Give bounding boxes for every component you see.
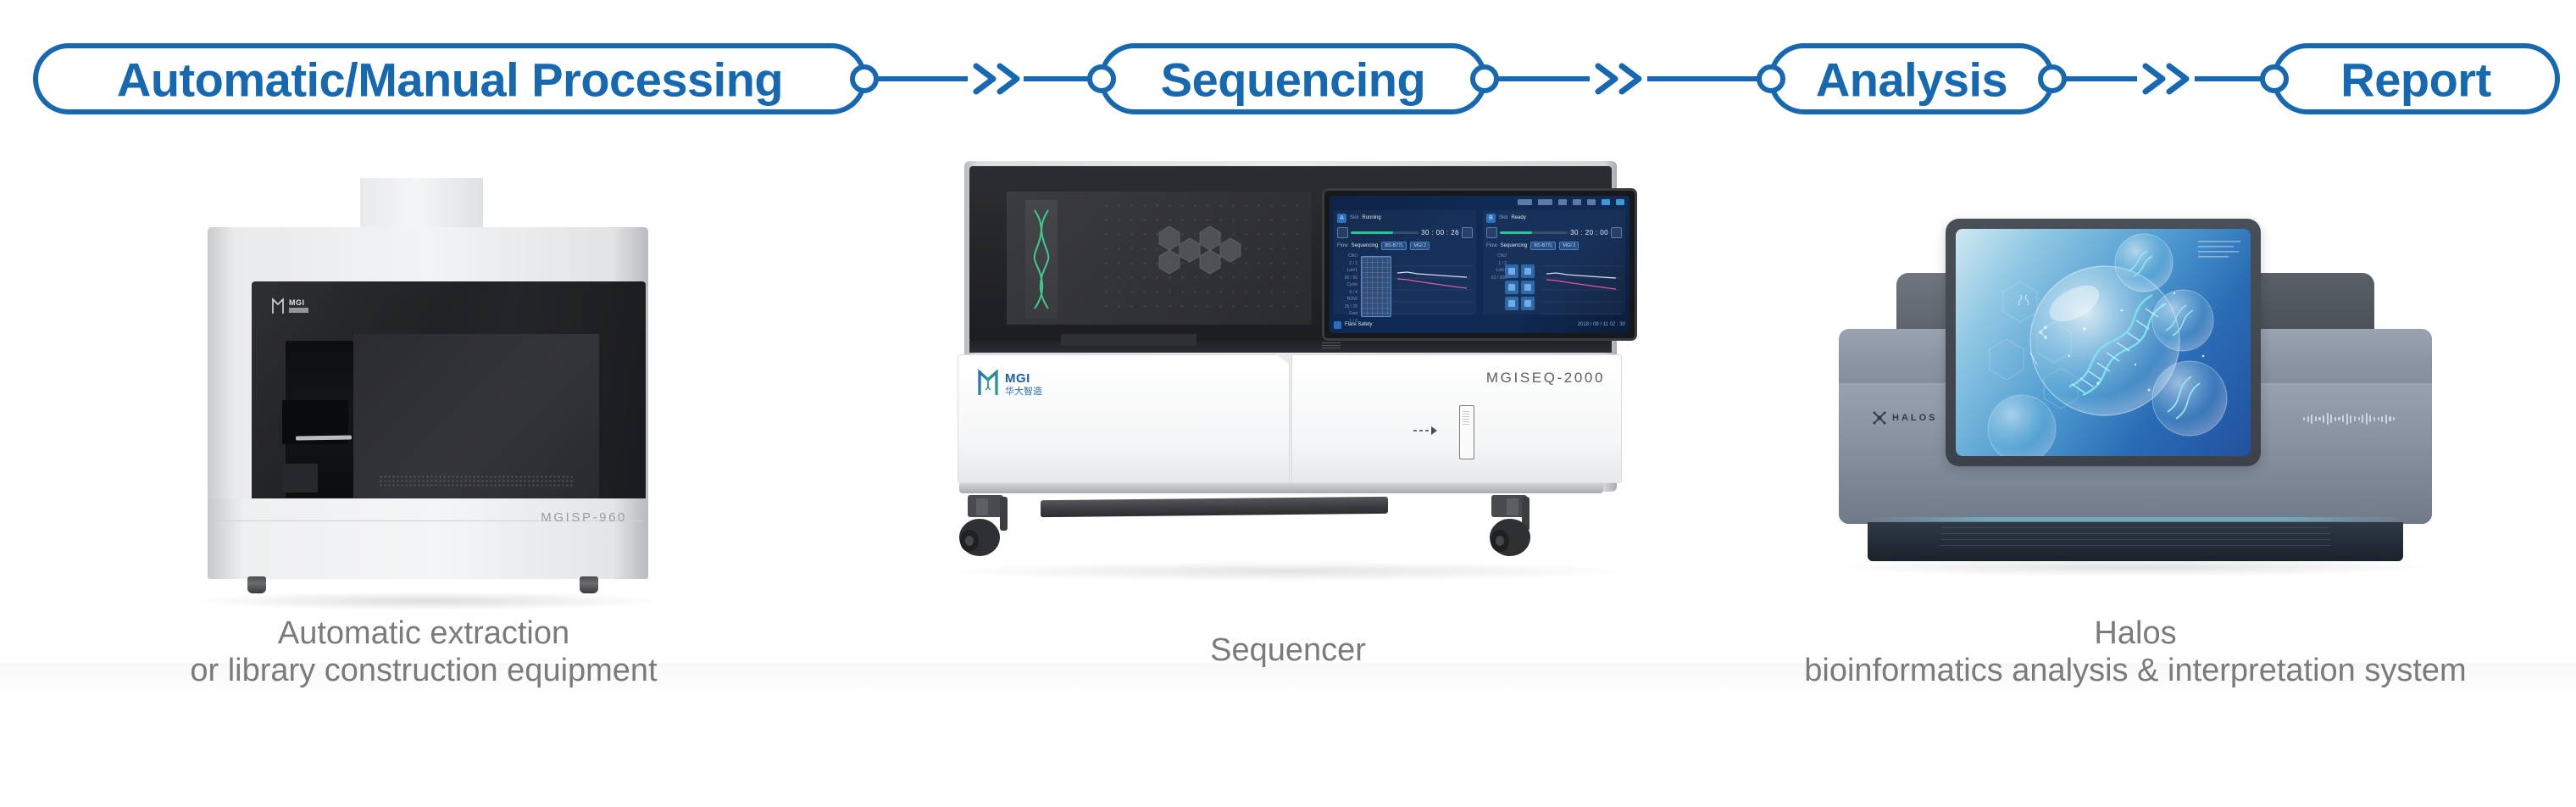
device-column-processing: MGI MGISP-960 Automatic extraction or li… bbox=[102, 136, 746, 807]
device-column-analysis: HALOS bbox=[1746, 136, 2525, 807]
caption-sequencer: Sequencer bbox=[1210, 632, 1366, 669]
d1-deck-block bbox=[282, 464, 318, 493]
panel-b-slot-chip: B bbox=[1486, 214, 1496, 223]
well bbox=[1521, 297, 1535, 310]
panel-b-progress-row: 30 : 20 : 00 bbox=[1486, 226, 1622, 238]
svg-text:MGI: MGI bbox=[1005, 371, 1030, 386]
circle-connector-icon-4 bbox=[1759, 67, 1783, 91]
panel-b-pause-button[interactable] bbox=[1611, 227, 1622, 238]
panel-a-slot-chip: A bbox=[1337, 214, 1346, 223]
status-icon-3 bbox=[1558, 199, 1567, 205]
panel-b-body: CNU 1 / 2 Lot#1 52 / 300 bbox=[1486, 253, 1622, 311]
d1-foot-left bbox=[247, 576, 266, 593]
user-icon[interactable] bbox=[1602, 199, 1610, 205]
flow-step-label-2[interactable]: Sequencing bbox=[1161, 53, 1425, 108]
panel-a-metric: Fast bbox=[1337, 310, 1357, 318]
panel-b-metric: CNU bbox=[1486, 253, 1507, 260]
caption-processing-line2: or library construction equipment bbox=[190, 652, 657, 689]
caption-sequencer-line1: Sequencer bbox=[1210, 632, 1366, 669]
panel-b-run-name: Ready bbox=[1511, 215, 1525, 220]
caption-processing: Automatic extraction or library construc… bbox=[190, 615, 657, 690]
status-icon-4 bbox=[1573, 199, 1581, 205]
d2-dna-indicator-slot bbox=[1025, 200, 1058, 319]
panel-a-metric: Lot#1 bbox=[1337, 267, 1357, 275]
footer-icon bbox=[1334, 321, 1341, 329]
svg-text:华大智造: 华大智造 bbox=[1005, 385, 1042, 397]
well bbox=[1505, 297, 1518, 310]
d1-vent-dots bbox=[379, 475, 574, 487]
d2-vent-grille bbox=[1322, 342, 1341, 350]
panel-b-flow-label: Flow bbox=[1486, 243, 1497, 248]
d2-caster-right bbox=[1476, 493, 1541, 576]
double-chevron-right-icon-1 bbox=[976, 66, 1017, 92]
mgisp-960-illustration: MGI MGISP-960 bbox=[186, 178, 661, 585]
halos-illustration: HALOS bbox=[1839, 195, 2432, 568]
panel-a-metric: CNU bbox=[1337, 253, 1357, 260]
footer-time: 2018 / 09 / 11 02 : 30 bbox=[1578, 322, 1625, 327]
panel-a-btn-1[interactable]: BS-B77L bbox=[1381, 242, 1407, 250]
menu-icon[interactable] bbox=[1616, 199, 1624, 205]
d2-upper-dark-panel: A Slot Running 30 : 00 : 26 bbox=[969, 166, 1612, 342]
d2-drawer-lip[interactable] bbox=[1061, 334, 1196, 346]
d2-cartridge-insert bbox=[1463, 411, 1469, 426]
device-column-sequencer: A Slot Running 30 : 00 : 26 bbox=[881, 136, 1695, 807]
well bbox=[1505, 281, 1518, 294]
d1-model-label: MGISP-960 bbox=[541, 510, 627, 525]
double-chevron-right-icon-3 bbox=[2146, 66, 2186, 92]
d2-support-rail bbox=[1041, 497, 1388, 517]
panel-a-remaining-time: 30 : 00 : 26 bbox=[1421, 229, 1459, 237]
d1-foot-right bbox=[580, 576, 598, 593]
panel-a-progress-row: 30 : 00 : 26 bbox=[1337, 226, 1473, 238]
sequencer-touchscreen[interactable]: A Slot Running 30 : 00 : 26 bbox=[1330, 196, 1629, 333]
panel-a-pause-button[interactable] bbox=[1462, 227, 1473, 238]
well bbox=[1521, 281, 1535, 294]
panel-a-metric: Cycle bbox=[1337, 281, 1357, 289]
d2-caster-left bbox=[959, 493, 1024, 576]
mgi-logo-icon: MGI 华大智造 bbox=[976, 368, 1068, 398]
footer-label: Flare Safety bbox=[1345, 322, 1372, 327]
panel-b-slot-label: Slot bbox=[1499, 215, 1507, 220]
panel-a-progress-fill bbox=[1351, 231, 1393, 234]
flow-step-label-3[interactable]: Analysis bbox=[1816, 53, 2007, 108]
svg-text:MGI: MGI bbox=[289, 298, 305, 307]
mgi-logo-icon: MGI bbox=[270, 295, 328, 317]
flow-step-label-1[interactable]: Automatic/Manual Processing bbox=[117, 53, 783, 108]
status-icon-2 bbox=[1538, 199, 1552, 205]
dna-helix-icon bbox=[1025, 200, 1058, 319]
circle-connector-icon-5 bbox=[2040, 67, 2064, 91]
circle-connector-icon-6 bbox=[2262, 67, 2286, 91]
panel-b-btn-1[interactable]: BS-B77L bbox=[1530, 242, 1556, 250]
panel-a-run-name: Running bbox=[1362, 215, 1380, 220]
panel-b-btn-2[interactable]: MGI 2 bbox=[1559, 242, 1579, 250]
panel-b-progress-fill bbox=[1500, 231, 1532, 234]
d2-cartridge-slot[interactable] bbox=[1459, 405, 1474, 459]
panel-a-progress-track bbox=[1351, 231, 1418, 234]
d3-output-tray[interactable] bbox=[1940, 527, 2330, 551]
screen-footer: Flare Safety 2018 / 09 / 11 02 : 30 bbox=[1334, 320, 1625, 330]
panel-a-metric: 25 / 25 bbox=[1337, 303, 1357, 311]
panel-b-metric: Lot#1 bbox=[1486, 267, 1507, 275]
screen-panel-a: A Slot Running 30 : 00 : 26 bbox=[1334, 210, 1476, 314]
halos-monitor bbox=[1946, 219, 2261, 466]
d3-waveform-indicator-icon bbox=[2303, 412, 2395, 426]
status-icon-5 bbox=[1587, 199, 1596, 205]
panel-b-progress-track bbox=[1500, 231, 1568, 234]
panel-a-metric-list: CNU 2 / 2 Lot#1 90 / 90 Cycle 3 / 4 ROW … bbox=[1337, 253, 1359, 325]
d2-hexagon-cluster bbox=[1142, 224, 1269, 283]
panel-a-stop-button[interactable] bbox=[1337, 227, 1348, 238]
halos-logo-icon: HALOS bbox=[1871, 409, 1944, 427]
caption-analysis-line1: Halos bbox=[1804, 615, 2466, 652]
d1-floor-shadow bbox=[195, 592, 661, 610]
d2-touchscreen-bezel: A Slot Running 30 : 00 : 26 bbox=[1322, 188, 1637, 341]
panel-b-header: B Slot Ready bbox=[1486, 213, 1622, 223]
panel-a-flow-row: Flow Sequencing BS-B77L MGI 2 bbox=[1337, 241, 1473, 250]
flow-step-label-4[interactable]: Report bbox=[2340, 53, 2490, 108]
d2-load-direction-icon bbox=[1413, 426, 1452, 436]
panel-a-flowcell-map bbox=[1361, 256, 1391, 317]
caption-processing-line1: Automatic extraction bbox=[190, 615, 657, 652]
screen-panel-b: B Slot Ready 30 : 20 : 00 bbox=[1483, 210, 1625, 314]
double-chevron-right-icon-2 bbox=[1598, 66, 1639, 92]
panel-b-metric: 1 / 2 bbox=[1486, 260, 1507, 268]
circle-connector-icon-1 bbox=[852, 67, 876, 91]
panel-a-btn-2[interactable]: MGI 2 bbox=[1410, 242, 1430, 250]
status-icon-1 bbox=[1518, 199, 1532, 205]
panel-a-metric: ROW bbox=[1337, 296, 1357, 303]
panel-a-metric: 90 / 90 bbox=[1337, 275, 1357, 282]
caption-analysis: Halos bioinformatics analysis & interpre… bbox=[1804, 615, 2466, 690]
panel-a-flow-label: Flow bbox=[1337, 243, 1348, 248]
well bbox=[1521, 264, 1535, 278]
mgiseq-2000-illustration: A Slot Running 30 : 00 : 26 bbox=[941, 161, 1635, 602]
d2-reagent-bay bbox=[1007, 192, 1312, 325]
well bbox=[1505, 264, 1518, 278]
panel-b-flow-value: Sequencing bbox=[1501, 243, 1528, 248]
panel-a-metric: 2 / 2 bbox=[1337, 260, 1357, 268]
d2-plinth bbox=[959, 483, 1603, 493]
circle-connector-icon-3 bbox=[1473, 67, 1496, 91]
circle-connector-icon-2 bbox=[1090, 67, 1113, 91]
screen-status-bar bbox=[1518, 199, 1624, 205]
device-stage: MGI MGISP-960 Automatic extraction or li… bbox=[0, 136, 2576, 807]
halos-screen[interactable] bbox=[1956, 229, 2251, 456]
panel-a-header: A Slot Running bbox=[1337, 213, 1473, 223]
panel-a-flow-value: Sequencing bbox=[1352, 243, 1379, 248]
panel-b-estimated-time: 30 : 20 : 00 bbox=[1570, 229, 1608, 237]
d1-outer-shell: MGI bbox=[208, 227, 648, 507]
panel-b-well-grid bbox=[1505, 264, 1535, 310]
panel-a-body: CNU 2 / 2 Lot#1 90 / 90 Cycle 3 / 4 ROW … bbox=[1337, 253, 1473, 311]
panel-a-quality-chart bbox=[1392, 254, 1473, 319]
panel-b-flow-row: Flow Sequencing BS-B77L MGI 2 bbox=[1486, 241, 1622, 250]
panel-b-quality-chart bbox=[1541, 254, 1622, 319]
process-flow-bar: Automatic/Manual Processing Sequencing A… bbox=[0, 0, 2576, 136]
d3-accent-glow bbox=[1868, 517, 2403, 521]
panel-b-metric: 52 / 300 bbox=[1486, 275, 1507, 282]
panel-b-stop-button[interactable] bbox=[1486, 227, 1497, 238]
caption-analysis-line2: bioinformatics analysis & interpretation… bbox=[1804, 652, 2466, 689]
panel-a-metric: 3 / 4 bbox=[1337, 289, 1357, 297]
panel-a-slot-label: Slot bbox=[1350, 215, 1358, 220]
d2-model-label: MGISEQ-2000 bbox=[1486, 370, 1605, 387]
halos-wordmark: HALOS bbox=[1892, 413, 1938, 423]
halos-wallpaper bbox=[1956, 229, 2251, 456]
